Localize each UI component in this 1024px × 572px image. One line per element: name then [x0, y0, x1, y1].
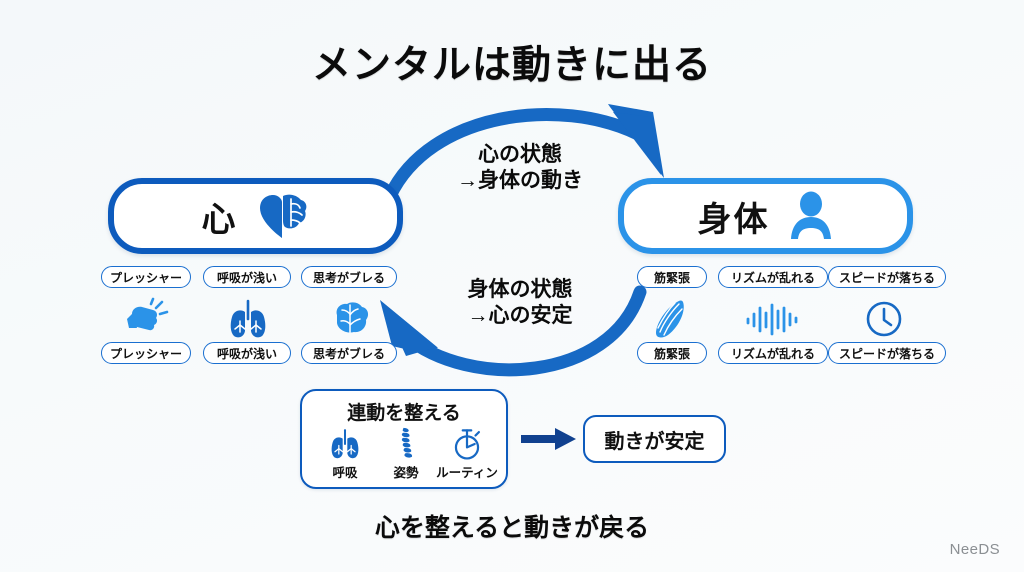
- node-karada[interactable]: 身体: [618, 178, 913, 254]
- card-item-posture[interactable]: 姿勢: [373, 427, 439, 481]
- chip-left-1-bottom[interactable]: 呼吸が浅い: [203, 342, 291, 364]
- arrow-top-label-line2: →身体の動き: [414, 168, 626, 194]
- node-kokoro-label: 心: [202, 192, 238, 241]
- chip-right-0-top[interactable]: 筋緊張: [637, 266, 707, 288]
- card-item-routine-label: ルーティン: [434, 462, 500, 481]
- lungs-icon: [220, 296, 276, 342]
- arrow-top-label: 心の状態 →身体の動き: [414, 142, 626, 195]
- waveform-rhythm-icon: [745, 296, 801, 342]
- watermark: NeeDS: [950, 541, 1000, 558]
- heart-brain-icon: [256, 192, 310, 240]
- chip-right-1-top[interactable]: リズムが乱れる: [718, 266, 828, 288]
- page-title: メンタルは動きに出る: [0, 34, 1024, 90]
- clock-icon: [856, 296, 912, 342]
- node-kokoro[interactable]: 心: [108, 178, 403, 254]
- arrow-bottom-label-line1: 身体の状態: [414, 277, 626, 303]
- chip-left-2-bottom[interactable]: 思考がブレる: [301, 342, 397, 364]
- chip-right-1-bottom[interactable]: リズムが乱れる: [718, 342, 828, 364]
- slide-canvas: メンタルは動きに出る 心: [0, 0, 1024, 572]
- brain-icon: [322, 296, 378, 342]
- stopwatch-icon: [434, 427, 500, 461]
- arrow-bottom-label: 身体の状態 →心の安定: [414, 277, 626, 330]
- muscle-icon: [644, 296, 700, 342]
- chip-right-0-bottom[interactable]: 筋緊張: [637, 342, 707, 364]
- fist-pressure-icon: [118, 296, 174, 342]
- card-item-posture-label: 姿勢: [373, 462, 439, 481]
- chip-left-0-top[interactable]: プレッシャー: [101, 266, 191, 288]
- card-item-breathing-label: 呼吸: [312, 462, 378, 481]
- card-item-breathing[interactable]: 呼吸: [312, 427, 378, 481]
- chip-left-2-top[interactable]: 思考がブレる: [301, 266, 397, 288]
- result-box-label: 動きが安定: [605, 425, 705, 454]
- chip-left-1-top[interactable]: 呼吸が浅い: [203, 266, 291, 288]
- lungs-icon: [312, 427, 378, 461]
- chip-right-2-bottom[interactable]: スピードが落ちる: [828, 342, 946, 364]
- spine-posture-icon: [373, 427, 439, 461]
- arrow-bottom-label-line2: →心の安定: [414, 303, 626, 329]
- result-box[interactable]: 動きが安定: [583, 415, 726, 463]
- arrow-top-label-line1: 心の状態: [414, 142, 626, 168]
- card-title: 連動を整える: [302, 398, 506, 425]
- chip-right-2-top[interactable]: スピードが落ちる: [828, 266, 946, 288]
- card-item-routine[interactable]: ルーティン: [434, 427, 500, 481]
- right-arrow-icon: [521, 427, 577, 451]
- body-person-icon: [788, 191, 834, 241]
- page-caption: 心を整えると動きが戻る: [0, 508, 1024, 544]
- adjust-linkage-card[interactable]: 連動を整える 呼吸: [300, 389, 508, 489]
- chip-left-0-bottom[interactable]: プレッシャー: [101, 342, 191, 364]
- node-karada-label: 身体: [698, 192, 770, 241]
